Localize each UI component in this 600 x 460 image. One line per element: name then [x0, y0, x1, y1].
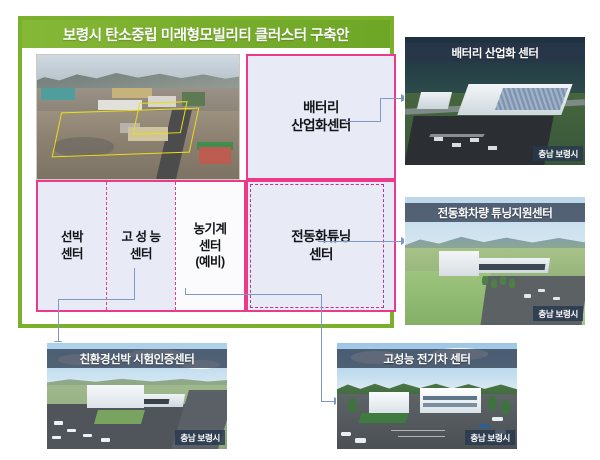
scene-car [52, 436, 61, 439]
scene-lawn [405, 271, 491, 325]
scene-car [54, 421, 63, 424]
card-caption: 전동화차량 튜닝지원센터 [405, 203, 585, 222]
connector-ev-v1 [185, 288, 186, 295]
connector-battery-v [380, 98, 381, 122]
scene-tree [348, 398, 357, 412]
connector-ship-h [58, 299, 135, 300]
card-location-badge: 충남 보령시 [465, 430, 515, 445]
zone-row-lower: 선박 센터 고 성 능 센터 농기계 센터 (예비) [36, 180, 246, 312]
connector-ev-h1 [185, 294, 322, 295]
zone-battery-industrialization-center[interactable]: 배터리 산업화센터 [246, 54, 396, 180]
render-card-ev-tuning-support-center[interactable]: 전동화차량 튜닝지원센터 충남 보령시 [404, 196, 586, 326]
render-card-battery-industrialization-center[interactable]: 배터리 산업화 센터 충남 보령시 [404, 36, 586, 166]
card-location-badge: 충남 보령시 [533, 146, 583, 161]
scene-car [492, 417, 503, 421]
render-card-high-performance-ev-center[interactable]: 고성능 전기차 센터 충남 보령시 [336, 342, 518, 450]
connector-tuning-h [318, 241, 402, 242]
scene-car [341, 432, 352, 436]
master-plan-panel: 보령시 탄소중립 미래형모빌리티 클러스터 구축안 배터리 산업화센터 전동화튜… [18, 16, 394, 328]
zone-label: 고 성 능 센터 [122, 229, 161, 263]
photo-building [199, 147, 231, 164]
scene-car [470, 138, 479, 142]
site-aerial-photo [36, 54, 240, 180]
scene-solar-roof [495, 88, 568, 110]
scene-car [524, 294, 531, 297]
zone-label: 전동화튜닝 센터 [291, 228, 351, 264]
zone-ship-center[interactable]: 선박 센터 [38, 182, 106, 310]
connector-ev-h2 [321, 401, 335, 402]
scene-car [488, 146, 497, 150]
scene-lawn [94, 410, 145, 424]
scene-car [479, 424, 490, 428]
scene-car [67, 429, 76, 432]
card-location-badge: 충남 보령시 [533, 306, 583, 321]
connector-ship-v1 [134, 268, 135, 299]
scene-car [355, 438, 366, 442]
connector-ev-v2 [321, 294, 322, 401]
zone-label: 선박 센터 [61, 229, 83, 263]
scene-tree [501, 400, 510, 414]
scene-lane-marking [398, 436, 445, 437]
photo-building [41, 88, 75, 99]
card-caption: 배터리 산업화 센터 [405, 43, 585, 62]
card-caption: 친환경선박 시험인증센터 [47, 349, 227, 368]
scene-tree [488, 396, 497, 410]
scene-building-secondary [369, 392, 409, 413]
scene-car [452, 143, 461, 147]
card-caption: 고성능 전기차 센터 [337, 349, 517, 368]
scene-tree [482, 276, 487, 285]
scene-building-main [87, 385, 145, 407]
zone-ev-tuning-center[interactable]: 전동화튜닝 센터 [246, 180, 396, 312]
scene-building-band [423, 396, 477, 400]
page-title: 보령시 탄소중립 미래형모빌리티 클러스터 구축안 [22, 20, 390, 48]
scene-tree [509, 279, 514, 288]
scene-tree [491, 279, 496, 288]
scene-building-band [423, 403, 477, 406]
zone-high-performance-center[interactable]: 고 성 능 센터 [106, 182, 175, 310]
scene-car [83, 434, 92, 437]
photo-building [112, 88, 152, 98]
scene-building-glazing [477, 264, 546, 270]
scene-building-main [439, 251, 479, 277]
zone-label: 배터리 산업화센터 [291, 99, 351, 135]
scene-parking-lot [404, 116, 554, 165]
connector-ship-v2 [58, 299, 59, 342]
scene-car [434, 137, 443, 141]
scene-tree [500, 276, 505, 285]
photo-building [98, 100, 142, 110]
scene-hedge [359, 413, 409, 423]
scene-car [101, 438, 110, 441]
render-card-eco-ship-test-certification-center[interactable]: 친환경선박 시험인증센터 충남 보령시 [46, 342, 228, 450]
scene-building-secondary [417, 92, 452, 109]
zone-label: 농기계 센터 (예비) [193, 221, 226, 271]
connector-battery-h1 [345, 121, 380, 122]
scene-building-main [420, 388, 481, 413]
scene-car [553, 297, 560, 300]
site-parcel-outline [132, 101, 188, 135]
card-location-badge: 충남 보령시 [175, 430, 225, 445]
scene-lane-marking [391, 430, 445, 431]
connector-battery-h2 [380, 98, 402, 99]
